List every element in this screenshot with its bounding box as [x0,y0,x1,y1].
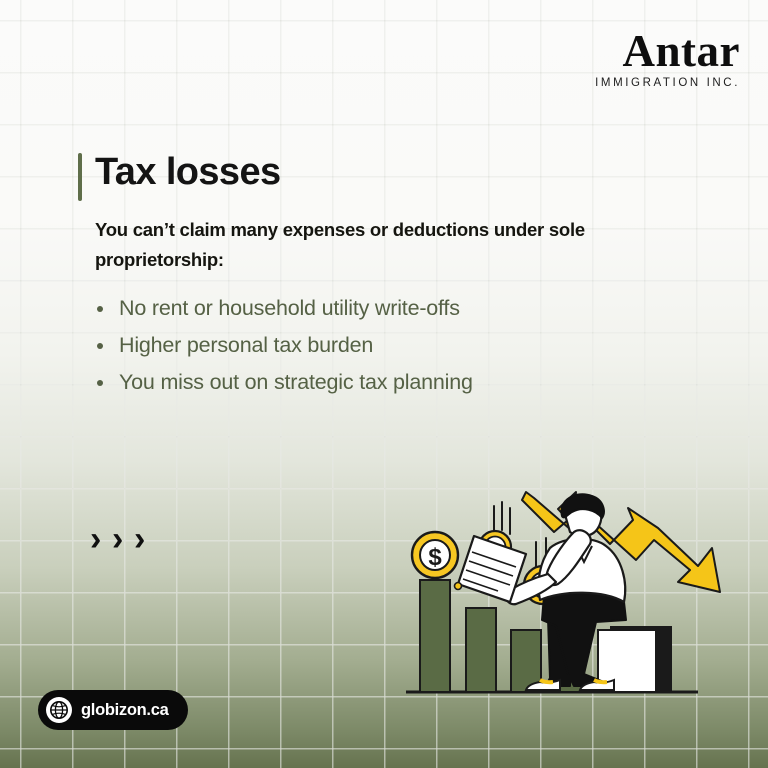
list-item: Higher personal tax burden [92,327,652,364]
globe-icon [46,697,72,723]
chevron-right-icon: › [134,520,156,558]
swipe-next-indicator[interactable]: › › › [90,520,156,558]
brand-name: Antar [595,28,740,74]
heading-block: Tax losses [78,150,281,194]
accent-bar [78,153,82,201]
page-title: Tax losses [95,150,281,194]
social-post-slide: Antar IMMIGRATION INC. Tax losses You ca… [0,0,768,768]
chevron-right-icon: › [112,520,134,558]
subtitle-text: You can’t claim many expenses or deducti… [95,215,615,275]
svg-text:$: $ [428,544,442,571]
list-item: You miss out on strategic tax planning [92,364,652,401]
chevron-right-icon: › [90,520,112,558]
brand-tagline: IMMIGRATION INC. [595,77,740,89]
list-item: No rent or household utility write-offs [92,290,652,327]
website-badge[interactable]: globizon.ca [38,690,188,730]
bullet-list: No rent or household utility write-offs … [92,290,652,401]
website-label: globizon.ca [81,701,168,720]
coin-dollar-large: $ [412,532,458,578]
declining-profit-illustration: $ % $ [398,470,738,710]
brand-logo: Antar IMMIGRATION INC. [595,28,740,89]
